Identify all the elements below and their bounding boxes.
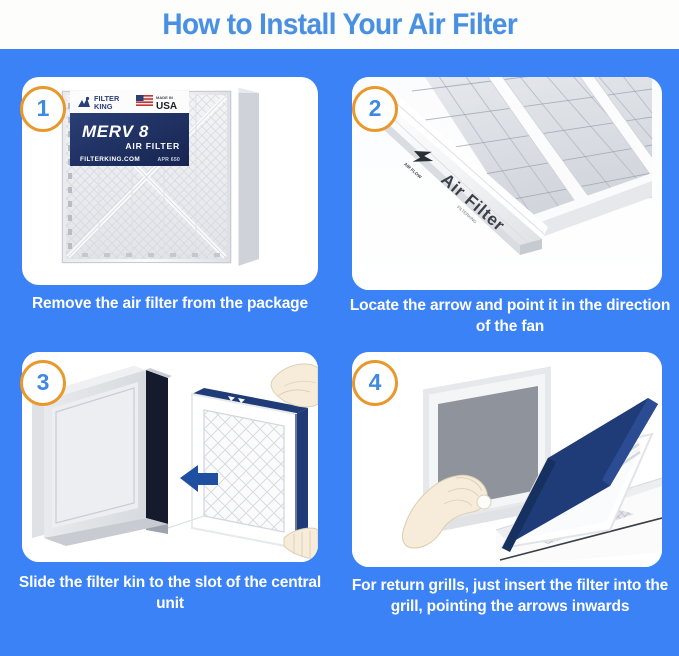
label-apr: APR 650 <box>158 157 180 163</box>
step-2-badge: 2 <box>352 86 398 132</box>
step-1: FILTER KING MADE IN USA <box>0 49 340 321</box>
step-2-number: 2 <box>369 97 382 120</box>
step-4-card <box>352 352 662 567</box>
step-4-caption: For return grills, just insert the filte… <box>345 576 675 617</box>
step-2: AIR FLOW Air Filter FILTERKING 2 Locate … <box>340 49 679 321</box>
step-3-card <box>22 352 318 562</box>
label-merv-rating: MERV 8 <box>82 122 149 141</box>
step-3-badge: 3 <box>20 360 66 406</box>
step-3: 3 Slide the filter kin to the slot of th… <box>0 321 340 656</box>
filter-corner-arrow-photo: AIR FLOW Air Filter FILTERKING <box>352 77 662 290</box>
page-title: How to Install Your Air Filter <box>162 8 517 42</box>
step-2-card: AIR FLOW Air Filter FILTERKING <box>352 77 662 290</box>
merv8-filter-photo: FILTER KING MADE IN USA <box>22 77 318 285</box>
title-band: How to Install Your Air Filter <box>0 0 679 49</box>
label-made-in: MADE IN <box>156 95 173 100</box>
step-4-badge: 4 <box>352 360 398 406</box>
step-1-number: 1 <box>37 97 50 120</box>
step-3-number: 3 <box>37 371 50 394</box>
step-3-caption: Slide the filter kin to the slot of the … <box>10 573 330 614</box>
step-1-card: FILTER KING MADE IN USA <box>22 77 318 285</box>
slide-filter-into-slot-illustration <box>22 352 318 562</box>
label-subtitle: AIR FILTER <box>125 141 180 151</box>
return-grill-insert-illustration <box>352 352 662 567</box>
step-1-caption: Remove the air filter from the package <box>10 294 330 315</box>
label-brand-line2: KING <box>94 102 113 111</box>
infographic-root: How to Install Your Air Filter <box>0 0 679 656</box>
step-4-number: 4 <box>369 371 382 394</box>
step-1-badge: 1 <box>20 86 66 132</box>
label-website: FILTERKING.COM <box>80 156 140 163</box>
step-4: 4 For return grills, just insert the fil… <box>340 321 679 656</box>
label-usa: USA <box>156 101 177 112</box>
